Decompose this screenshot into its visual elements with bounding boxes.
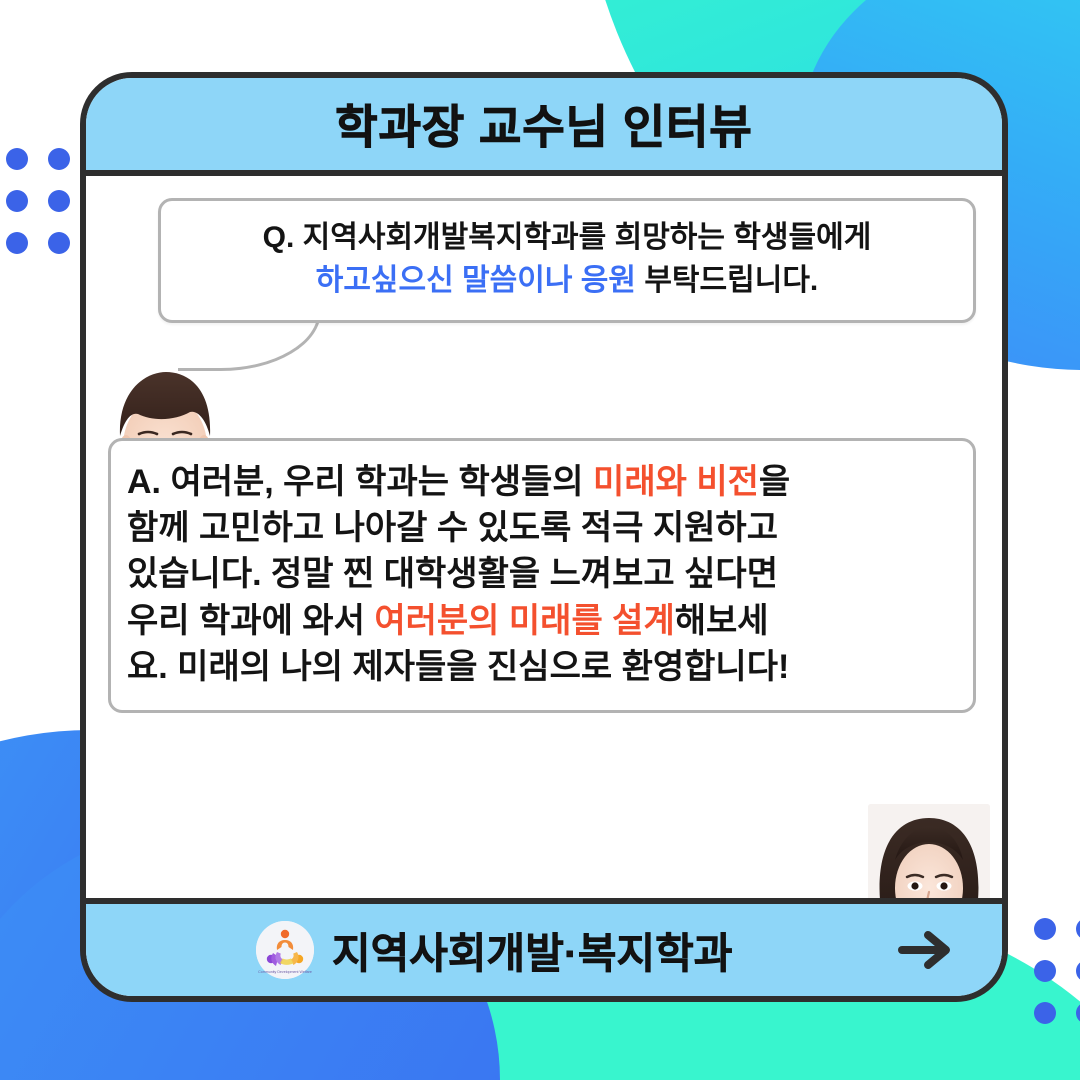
dot [1034,1002,1056,1024]
answer-line-2: 함께 고민하고 나아갈 수 있도록 적극 지원하고 [127,505,957,551]
question-line-2: 하고싶으신 말씀이나 응원 부탁드립니다. [175,260,959,303]
dot-grid-right [1034,918,1080,1044]
answer-bubble: A. 여러분, 우리 학과는 학생들의 미래와 비전을 함께 고민하고 나아갈 … [108,438,976,713]
department-name: 지역사회개발·복지학과 [332,920,732,981]
answer-line-4-post: 해보세 [675,602,769,640]
dot [6,148,28,170]
question-line-1: Q. 지역사회개발복지학과를 희망하는 학생들에게 [175,217,959,260]
answer-line-3-pre: 있습니다. 정말 찐 대학생활을 느껴보고 싶다면 [127,555,778,593]
question-bubble: Q. 지역사회개발복지학과를 희망하는 학생들에게 하고싶으신 말씀이나 응원 … [158,198,976,323]
question-highlight: 하고싶으신 말씀이나 응원 [316,264,636,297]
answer-line-2-pre: 함께 고민하고 나아갈 수 있도록 적극 지원하고 [127,509,778,547]
dot [1034,918,1056,940]
card-header: 학과장 교수님 인터뷰 [86,78,1002,176]
page-title: 학과장 교수님 인터뷰 [335,91,752,157]
dot [6,190,28,212]
dot [1076,918,1080,940]
answer-line-4: 우리 학과에 와서 여러분의 미래를 설계해보세 [127,598,957,644]
arrow-right-glyph [896,927,956,973]
answer-line-4-pre: 우리 학과에 와서 [127,602,374,640]
dot [1034,960,1056,982]
dot [48,232,70,254]
answer-line-3: 있습니다. 정말 찐 대학생활을 느껴보고 싶다면 [127,551,957,597]
card-footer: Community Development Welfare 지역사회개발·복지학… [86,898,1002,996]
answer-line-1: A. 여러분, 우리 학과는 학생들의 미래와 비전을 [127,459,957,505]
interview-card: 학과장 교수님 인터뷰 Q. 지역사회개발복지학과를 희망하는 학생들에게 하고… [80,72,1008,1002]
card-body: Q. 지역사회개발복지학과를 희망하는 학생들에게 하고싶으신 말씀이나 응원 … [86,176,1002,898]
answer-line-1-highlight: 미래와 비전 [593,463,759,501]
question-line-2-rest: 부탁드립니다. [636,264,818,297]
answer-line-5-pre: 요. 미래의 나의 제자들을 진심으로 환영합니다! [127,648,789,686]
answer-line-4-highlight: 여러분의 미래를 설계 [374,602,674,640]
community-welfare-logo-icon: Community Development Welfare [256,921,314,979]
answer-line-5: 요. 미래의 나의 제자들을 진심으로 환영합니다! [127,644,957,690]
logo-caption: Community Development Welfare [258,970,312,974]
answer-line-1-post: 을 [759,463,790,501]
answer-line-1-pre: A. 여러분, 우리 학과는 학생들의 [127,463,593,501]
dot [48,148,70,170]
dot [48,190,70,212]
arrow-right-icon[interactable] [896,927,956,973]
dot [1076,1002,1080,1024]
dot [1076,960,1080,982]
department-logo-icon: Community Development Welfare [256,921,314,979]
dot [6,232,28,254]
